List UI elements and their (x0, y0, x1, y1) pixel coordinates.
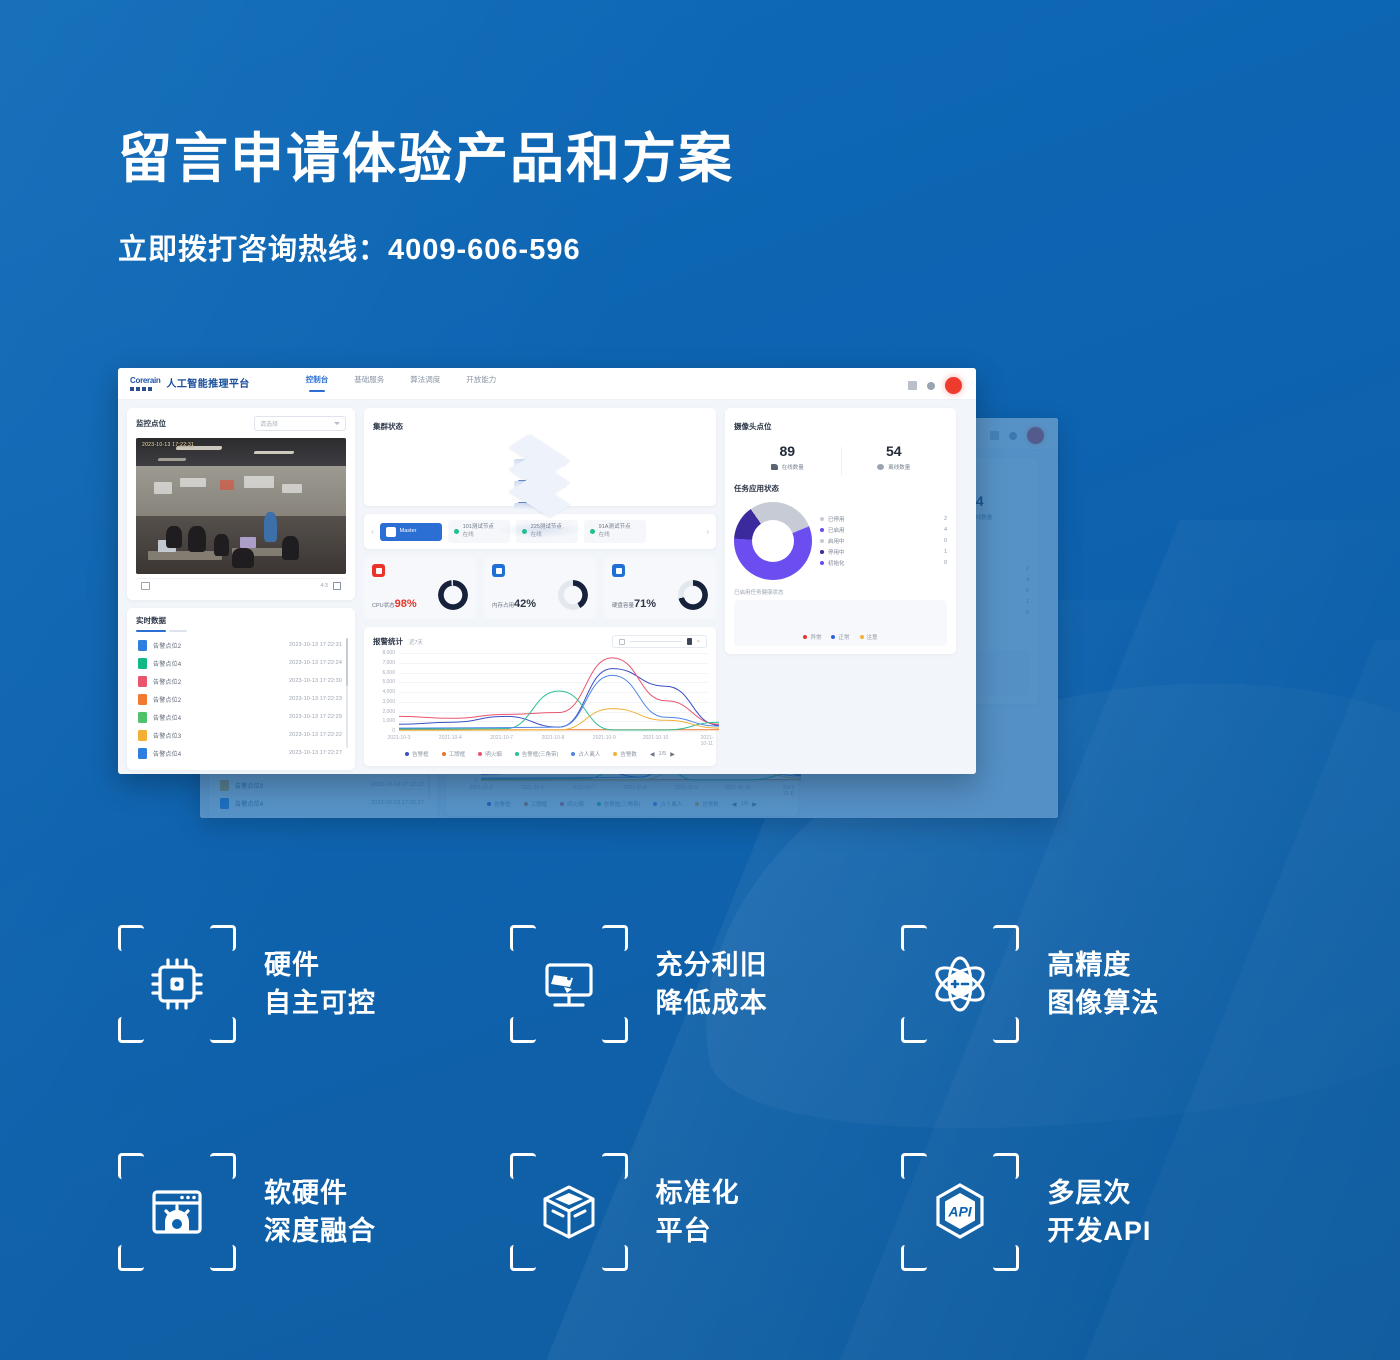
metric-label: CPU状态 (372, 603, 395, 609)
metric-icon (372, 564, 385, 577)
alarm-line-chart: 01,0002,0003,0004,0005,0006,0007,0008,00… (373, 653, 707, 745)
alarm-type-icon (138, 694, 147, 705)
alarm-type-icon (138, 658, 147, 669)
next-node-icon[interactable]: › (706, 527, 709, 536)
offline-count-label: 离线数量 (888, 463, 910, 471)
feature-line1: 充分利旧 (656, 946, 768, 984)
video-poster (244, 476, 274, 488)
alarm-type-icon (138, 640, 147, 651)
nav-item-console[interactable]: 控制台 (306, 375, 329, 392)
list-item[interactable]: 告警点位42023-10-13 17:22:24 (136, 654, 346, 672)
right-column: 摄像头点位 89 在线数量 54 (725, 408, 956, 766)
alarm-type-icon (138, 748, 147, 759)
hero-text-block: 留言申请体验产品和方案 立即拨打咨询热线：4009-606-596 (118, 128, 734, 268)
alarm-chart-card: 报警统计 近7天 × 01,0002,0003,0004,00 (364, 627, 716, 766)
alarm-time: 2023-10-13 17:22:30 (289, 678, 342, 684)
legend-item: 启用中0 (820, 537, 947, 545)
feature-line2: 自主可控 (264, 984, 376, 1022)
list-item[interactable]: 告警点位42023-10-13 17:22:29 (136, 708, 346, 726)
metric-value: 42% (514, 598, 536, 610)
alarm-time: 2023-10-13 17:22:31 (289, 642, 342, 648)
x-axis-tick: 2021-10-11 (701, 735, 714, 747)
realtime-card-title: 实时数据 (136, 616, 346, 626)
feature-line1: 标准化 (656, 1174, 740, 1212)
video-light (158, 458, 187, 461)
task-status-donut-group: 已停用2已启用4启用中0停用中1初始化0 (734, 502, 947, 580)
monitor-card-title: 监控点位 (136, 419, 166, 429)
video-person (166, 526, 182, 548)
metric-ring (438, 580, 468, 610)
camera-offline-icon (877, 464, 884, 470)
resource-metrics-row: CPU状态98%内存占用42%硬盘容量71% (364, 557, 716, 619)
feature-item-hardware: 硬件 自主可控 (118, 925, 510, 1043)
feature-item-precision: 高精度 图像算法 (901, 925, 1293, 1043)
alarm-label: 告警点位2 (153, 695, 181, 704)
api-hexagon-icon: API (901, 1153, 1019, 1271)
master-node-icon (386, 527, 396, 537)
legend-item: 已启用4 (820, 526, 947, 534)
video-person (188, 526, 206, 552)
hotline-text: 立即拨打咨询热线：4009-606-596 (118, 226, 734, 268)
chart-series-line (399, 691, 719, 730)
alarm-type-icon (138, 676, 147, 687)
cluster-status-card: 集群状态 (364, 408, 716, 506)
video-desk (148, 551, 222, 560)
chart-legend: 告警框工牌框明火烟告警框(三角带)占人离人告警数◀1/5▶ (373, 750, 707, 758)
alarm-time: 2023-10-13 17:22:27 (289, 750, 342, 756)
chart-legend-item[interactable]: 占人离人 (571, 750, 600, 758)
feature-label: 标准化 平台 (656, 1174, 740, 1251)
video-toolbar-right: 4:3 (320, 582, 341, 590)
online-status-icon (454, 529, 459, 534)
alarm-type-icon (138, 712, 147, 723)
feature-grid: 硬件 自主可控 充分利旧 降低成本 (118, 925, 1293, 1271)
monitor-card-header: 监控点位 请选择 (136, 416, 346, 431)
metric-label: 内存占用 (492, 603, 514, 609)
feature-item-reuse: 充分利旧 降低成本 (510, 925, 902, 1043)
feature-label: 硬件 自主可控 (264, 946, 376, 1023)
alarm-time: 2023-10-13 17:22:24 (289, 660, 342, 666)
list-scrollbar[interactable] (346, 638, 348, 748)
offline-count: 54 (841, 443, 948, 460)
maximize-icon[interactable] (927, 382, 935, 390)
feature-line2: 开发API (1047, 1212, 1151, 1250)
camera-icon (771, 464, 778, 470)
list-item[interactable]: 告警点位42023-10-13 17:22:27 (136, 744, 346, 762)
metric-ring (678, 580, 708, 610)
realtime-list[interactable]: 告警点位22023-10-13 17:22:31告警点位42023-10-13 … (136, 636, 346, 762)
feature-line2: 平台 (656, 1212, 740, 1250)
minimize-icon[interactable] (908, 381, 917, 390)
metric-value: 98% (395, 598, 417, 610)
nav-item-open-capability[interactable]: 开放能力 (466, 375, 496, 392)
alarm-time: 2023-10-13 17:22:22 (289, 732, 342, 738)
y-axis-tick: 0 (392, 728, 395, 734)
calendar-icon (619, 639, 625, 645)
feature-item-platform: 标准化 平台 (510, 1153, 902, 1271)
alarm-label: 告警点位4 (153, 713, 181, 722)
x-axis: 2021-10-32021-10-42021-10-72021-10-82021… (399, 735, 707, 745)
close-icon[interactable] (945, 377, 962, 394)
metric-ring (558, 580, 588, 610)
app-titlebar: Corerain 人工智能推理平台 控制台 基础服务 算法调度 开放能力 (118, 368, 976, 400)
window-controls (908, 377, 962, 394)
dashboard-screenshot: 监控点位 请选择 (118, 368, 1058, 828)
legend-prev-icon[interactable]: ◀ (650, 751, 655, 758)
alarm-label: 告警点位4 (153, 749, 181, 758)
online-count: 89 (734, 443, 841, 460)
offline-count-block: 54 离线数量 (841, 443, 948, 471)
cube-box-icon (510, 1153, 628, 1271)
logo-wordmark: Corerain (130, 377, 161, 385)
range-track (630, 641, 682, 642)
date-range-slider[interactable]: × (612, 635, 707, 648)
video-poster (282, 484, 302, 493)
feature-line1: 软硬件 (264, 1174, 376, 1212)
brand-logo-group: Corerain 人工智能推理平台 (130, 377, 250, 391)
page-title: 留言申请体验产品和方案 (118, 128, 734, 192)
grid-line (399, 731, 707, 732)
metric-label: 硬盘容量 (612, 603, 634, 609)
alarm-label: 告警点位3 (153, 731, 181, 740)
chart-legend-item[interactable]: 明火烟 (478, 750, 502, 758)
y-axis-tick: 8,000 (382, 650, 395, 656)
chart-header: 报警统计 近7天 × (373, 635, 707, 648)
legend-item: 已停用2 (820, 515, 947, 523)
dashboard-body: 监控点位 请选择 (118, 400, 976, 774)
node-name: 101测试节点 (463, 524, 494, 531)
metric-icon (492, 564, 505, 577)
task-status-donut (734, 502, 812, 580)
feature-line1: 多层次 (1047, 1174, 1151, 1212)
chart-title: 报警统计 (373, 637, 403, 647)
x-axis-tick: 2021-10-7 (490, 735, 513, 741)
video-poster (180, 478, 206, 487)
app-window: Corerain 人工智能推理平台 控制台 基础服务 算法调度 开放能力 (118, 368, 976, 774)
feature-line1: 硬件 (264, 946, 376, 984)
logo-dots-icon (130, 387, 161, 391)
camera-card-title: 摄像头点位 (734, 422, 772, 431)
list-item[interactable]: 告警点位22023-10-13 17:22:31 (136, 636, 346, 654)
feature-label: 充分利旧 降低成本 (656, 946, 768, 1023)
product-name: 人工智能推理平台 (167, 379, 250, 391)
x-axis-tick: 2021-10-4 (439, 735, 462, 741)
camera-stats: 89 在线数量 54 离线数量 (734, 434, 947, 478)
feature-line2: 降低成本 (656, 984, 768, 1022)
monitor-select-value: 请选择 (260, 419, 278, 428)
node-name: 91A测试节点 (599, 524, 631, 531)
range-handle[interactable] (687, 638, 692, 645)
node-chip-91a[interactable]: 91A测试节点 在线 (584, 520, 646, 543)
list-item[interactable]: 告警点位32023-10-13 17:22:22 (136, 726, 346, 744)
video-toolbar: 4:3 (136, 578, 346, 592)
realtime-card-header: 实时数据 (136, 616, 346, 632)
chart-legend-item[interactable]: 告警框(三角带) (515, 750, 559, 758)
chart-subtitle: 近7天 (409, 638, 423, 646)
online-status-icon (590, 529, 595, 534)
atom-icon (901, 925, 1019, 1043)
node-status: 在线 (599, 532, 631, 539)
legend-page-label: 1/5 (659, 751, 667, 757)
browser-gear-icon (118, 1153, 236, 1271)
video-poster (154, 482, 172, 494)
legend-item: 异常 (803, 633, 821, 641)
alarm-label: 告警点位2 (153, 641, 181, 650)
video-person (282, 536, 299, 560)
video-light (254, 451, 295, 454)
metric-card: CPU状态98% (364, 557, 476, 619)
nav-item-basic-service[interactable]: 基础服务 (354, 375, 384, 392)
y-axis-tick: 2,000 (382, 709, 395, 715)
x-axis-tick: 2021-10-10 (643, 735, 669, 741)
alarm-time: 2023-10-13 17:22:23 (289, 696, 342, 702)
top-nav: 控制台 基础服务 算法调度 开放能力 (306, 375, 497, 392)
x-axis-tick: 2021-10-8 (542, 735, 565, 741)
online-count-block: 89 在线数量 (734, 443, 841, 471)
monitor-point-select[interactable]: 请选择 (254, 416, 346, 431)
video-person (214, 534, 229, 556)
node-chip-master[interactable]: Master (380, 523, 442, 541)
metric-card: 内存占用42% (484, 557, 596, 619)
alarm-label: 告警点位4 (153, 659, 181, 668)
health-legend: 异常正常注意 (803, 633, 877, 641)
server-stack-icon (500, 442, 580, 534)
y-axis-tick: 3,000 (382, 699, 395, 705)
legend-item: 初始化0 (820, 559, 947, 567)
chart-legend-item[interactable]: 工牌框 (442, 750, 466, 758)
server-slab (508, 486, 572, 520)
y-axis-tick: 7,000 (382, 660, 395, 666)
legend-item: 停用中1 (820, 548, 947, 556)
video-timestamp: 2023-10-13 17:22:31 (142, 442, 194, 448)
feature-item-api: API 多层次 开发API (901, 1153, 1293, 1271)
monitor-point-card: 监控点位 请选择 (127, 408, 355, 600)
metric-value: 71% (634, 598, 656, 610)
health-chart: 异常正常注意 (734, 600, 947, 646)
feature-label: 软硬件 深度融合 (264, 1174, 376, 1251)
nav-item-algorithm-schedule[interactable]: 算法调度 (410, 375, 440, 392)
metric-card: 硬盘容量71% (604, 557, 716, 619)
list-item[interactable]: 告警点位22023-10-13 17:22:23 (136, 690, 346, 708)
donut-legend: 已停用2已启用4启用中0停用中1初始化0 (820, 515, 947, 567)
y-axis-tick: 1,000 (382, 718, 395, 724)
chart-legend-item[interactable]: 告警框 (405, 750, 429, 758)
online-count-label: 在线数量 (782, 463, 804, 471)
video-person (264, 512, 277, 542)
middle-column: 集群状态 ‹ Master (364, 408, 716, 766)
realtime-data-card: 实时数据 告警点位22023-10-13 17:22:31告警点位42023-1… (127, 608, 355, 770)
legend-item: 正常 (831, 633, 849, 641)
node-status: 在线 (463, 532, 494, 539)
metric-icon (612, 564, 625, 577)
feature-item-integration: 软硬件 深度融合 (118, 1153, 510, 1271)
svg-text:API: API (948, 1204, 973, 1220)
legend-next-icon[interactable]: ▶ (670, 751, 675, 758)
left-column: 监控点位 请选择 (127, 408, 355, 766)
video-poster (220, 480, 234, 490)
grid-view-icon[interactable] (141, 582, 150, 590)
chart-legend-item[interactable]: 告警数 (613, 750, 637, 758)
legend-item: 注意 (860, 633, 878, 641)
video-person (232, 548, 254, 568)
landing-page: 留言申请体验产品和方案 立即拨打咨询热线：4009-606-596 (0, 0, 1400, 1360)
logo-mark: Corerain (130, 377, 161, 391)
alarm-type-icon (138, 730, 147, 741)
video-ratio-label: 4:3 (320, 583, 328, 589)
camera-point-card: 摄像头点位 89 在线数量 54 (725, 408, 956, 654)
cpu-chip-icon (118, 925, 236, 1043)
feature-label: 高精度 图像算法 (1047, 946, 1159, 1023)
clear-icon[interactable]: × (697, 639, 700, 645)
y-axis-tick: 4,000 (382, 689, 395, 695)
feature-line1: 高精度 (1047, 946, 1159, 984)
alarm-time: 2023-10-13 17:22:29 (289, 714, 342, 720)
list-item[interactable]: 告警点位22023-10-13 17:22:30 (136, 672, 346, 690)
chart-series-svg (399, 653, 719, 731)
y-axis: 01,0002,0003,0004,0005,0006,0007,0008,00… (373, 653, 399, 731)
legend-pager[interactable]: ◀1/5▶ (650, 751, 675, 758)
chevron-down-icon (334, 422, 340, 425)
video-feed[interactable]: 2023-10-13 17:22:31 (136, 438, 346, 574)
feature-line2: 图像算法 (1047, 984, 1159, 1022)
alarm-label: 告警点位2 (153, 677, 181, 686)
x-axis-tick: 2021-10-9 (593, 735, 616, 741)
x-axis-tick: 2021-10-3 (388, 735, 411, 741)
title-underline (136, 630, 166, 632)
prev-node-icon[interactable]: ‹ (371, 527, 374, 536)
node-name: Master (400, 528, 417, 535)
server-shadow (497, 522, 583, 538)
feature-label: 多层次 开发API (1047, 1174, 1151, 1251)
y-axis-tick: 5,000 (382, 679, 395, 685)
cluster-card-title: 集群状态 (373, 422, 403, 431)
task-status-title: 任务应用状态 (734, 484, 779, 493)
video-screen (240, 537, 256, 548)
feature-line2: 深度融合 (264, 1212, 376, 1250)
monitor-camera-icon (510, 925, 628, 1043)
health-title: 已启用任务健康状态 (734, 588, 947, 596)
y-axis-tick: 6,000 (382, 670, 395, 676)
fullscreen-icon[interactable] (333, 582, 341, 590)
